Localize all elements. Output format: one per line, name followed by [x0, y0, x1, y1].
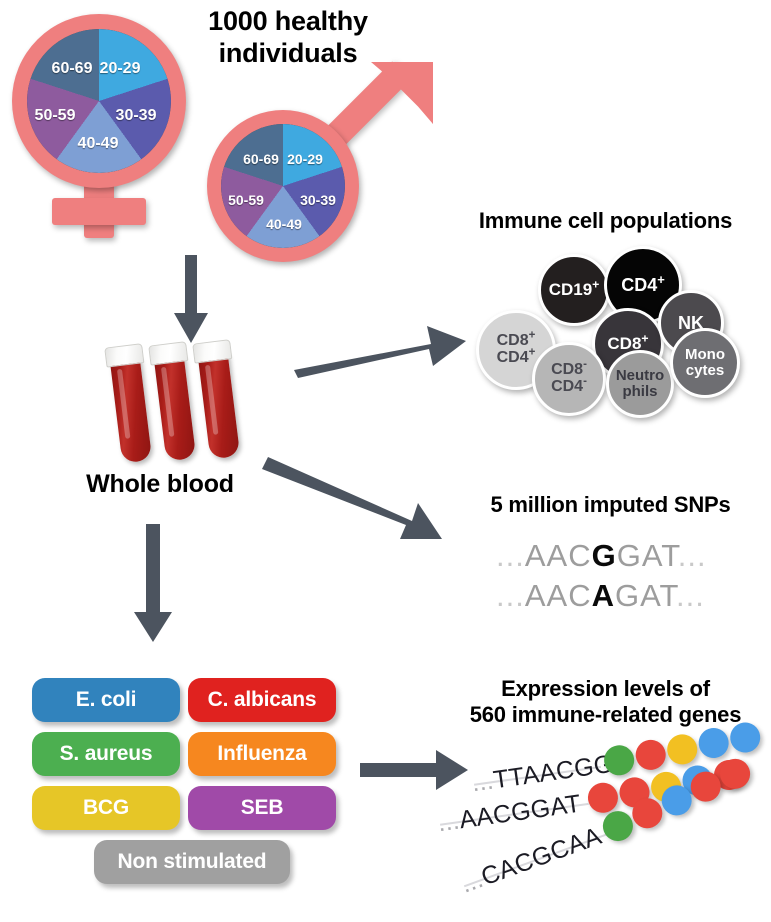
snp-suffix: ... [678, 538, 707, 573]
stimulus-e-coli[interactable]: E. coli [32, 678, 180, 722]
immune-cell-label: CD8- CD4- [551, 362, 587, 395]
immune-cell-label: CD8+ CD4+ [497, 333, 536, 366]
immune-cell-cluster: CD8+ CD4+ CD19+ CD4+ CD8+ NK CD8- C [462, 246, 762, 418]
immune-cell-cd8neg-cd4neg: CD8- CD4- [532, 342, 606, 416]
blood-tube-sheen [117, 369, 130, 439]
blood-tube-rim [104, 343, 144, 367]
male-age-pie [221, 124, 345, 248]
arrow-cohort-to-blood [170, 255, 212, 345]
male-symbol: 20-29 30-39 40-49 50-59 60-69 [205, 60, 435, 260]
female-age-pie-slices [27, 29, 171, 173]
cohort-title-line1: 1000 healthy [168, 6, 408, 38]
blood-tube-sheen [161, 367, 174, 437]
snp-right: GAT [615, 578, 676, 613]
stimulus-c-albicans[interactable]: C. albicans [188, 678, 336, 722]
gene-bead [697, 726, 731, 760]
gene-bead [665, 732, 699, 766]
snp-sequence-1: ...AACGGAT... [496, 538, 707, 574]
expression-title-line2: 560 immune-related genes [440, 702, 771, 728]
blood-tube-2 [154, 355, 196, 462]
snp-suffix: ... [676, 578, 705, 613]
figure-canvas: 1000 healthy individuals 20-29 30-39 40-… [0, 0, 771, 922]
whole-blood-label: Whole blood [60, 470, 260, 500]
blood-tube-1 [110, 357, 152, 464]
immune-cell-monocytes: Mono cytes [670, 328, 740, 398]
stimulus-bcg[interactable]: BCG [32, 786, 180, 830]
arrow-blood-to-immune [290, 318, 470, 380]
arrow-blood-to-stimuli [132, 524, 176, 644]
snp-variant-allele: A [592, 578, 615, 613]
snp-left: AAC [525, 578, 592, 613]
stimulus-s-aureus[interactable]: S. aureus [32, 732, 180, 776]
arrow-blood-to-snps [262, 445, 452, 550]
snp-right: GAT [617, 538, 678, 573]
immune-cell-cd19pos: CD19+ [538, 254, 610, 326]
immune-cell-label: CD19+ [549, 281, 600, 299]
blood-tube-sheen [205, 365, 218, 435]
blood-tube-rim [148, 341, 188, 365]
snp-prefix: ... [496, 578, 525, 613]
stimulus-seb[interactable]: SEB [188, 786, 336, 830]
snp-sequence-2: ...AACAGAT... [496, 578, 705, 614]
gene-bead [634, 738, 668, 772]
blood-tube-rim [192, 339, 232, 363]
expression-title: Expression levels of 560 immune-related … [440, 676, 771, 728]
snp-prefix: ... [496, 538, 525, 573]
female-symbol: 20-29 30-39 40-49 50-59 60-69 [10, 12, 200, 232]
expression-strands: ...TTAACGG ...AACGGAT ...CACGCAA [450, 744, 771, 904]
stimulus-influenza[interactable]: Influenza [188, 732, 336, 776]
male-age-pie-slices [221, 124, 345, 248]
stimuli-group: E. coli C. albicans S. aureus Influenza … [32, 678, 352, 894]
blood-tube-3 [198, 353, 240, 460]
immune-cell-label: CD4+ [621, 276, 665, 295]
expression-title-line1: Expression levels of [440, 676, 771, 702]
snp-variant-allele: G [592, 538, 617, 573]
immune-cell-label: Mono cytes [685, 347, 725, 378]
immune-cell-label: Neutro phils [616, 368, 664, 399]
snp-left: AAC [525, 538, 592, 573]
snps-title: 5 million imputed SNPs [450, 492, 771, 518]
stimulus-non-stimulated[interactable]: Non stimulated [94, 840, 290, 884]
female-symbol-crossbar [52, 198, 146, 225]
gene-bead [586, 781, 620, 815]
immune-cell-neutrophils: Neutro phils [606, 350, 674, 418]
female-age-pie [27, 29, 171, 173]
immune-title: Immune cell populations [440, 208, 771, 234]
whole-blood-group [112, 348, 272, 478]
